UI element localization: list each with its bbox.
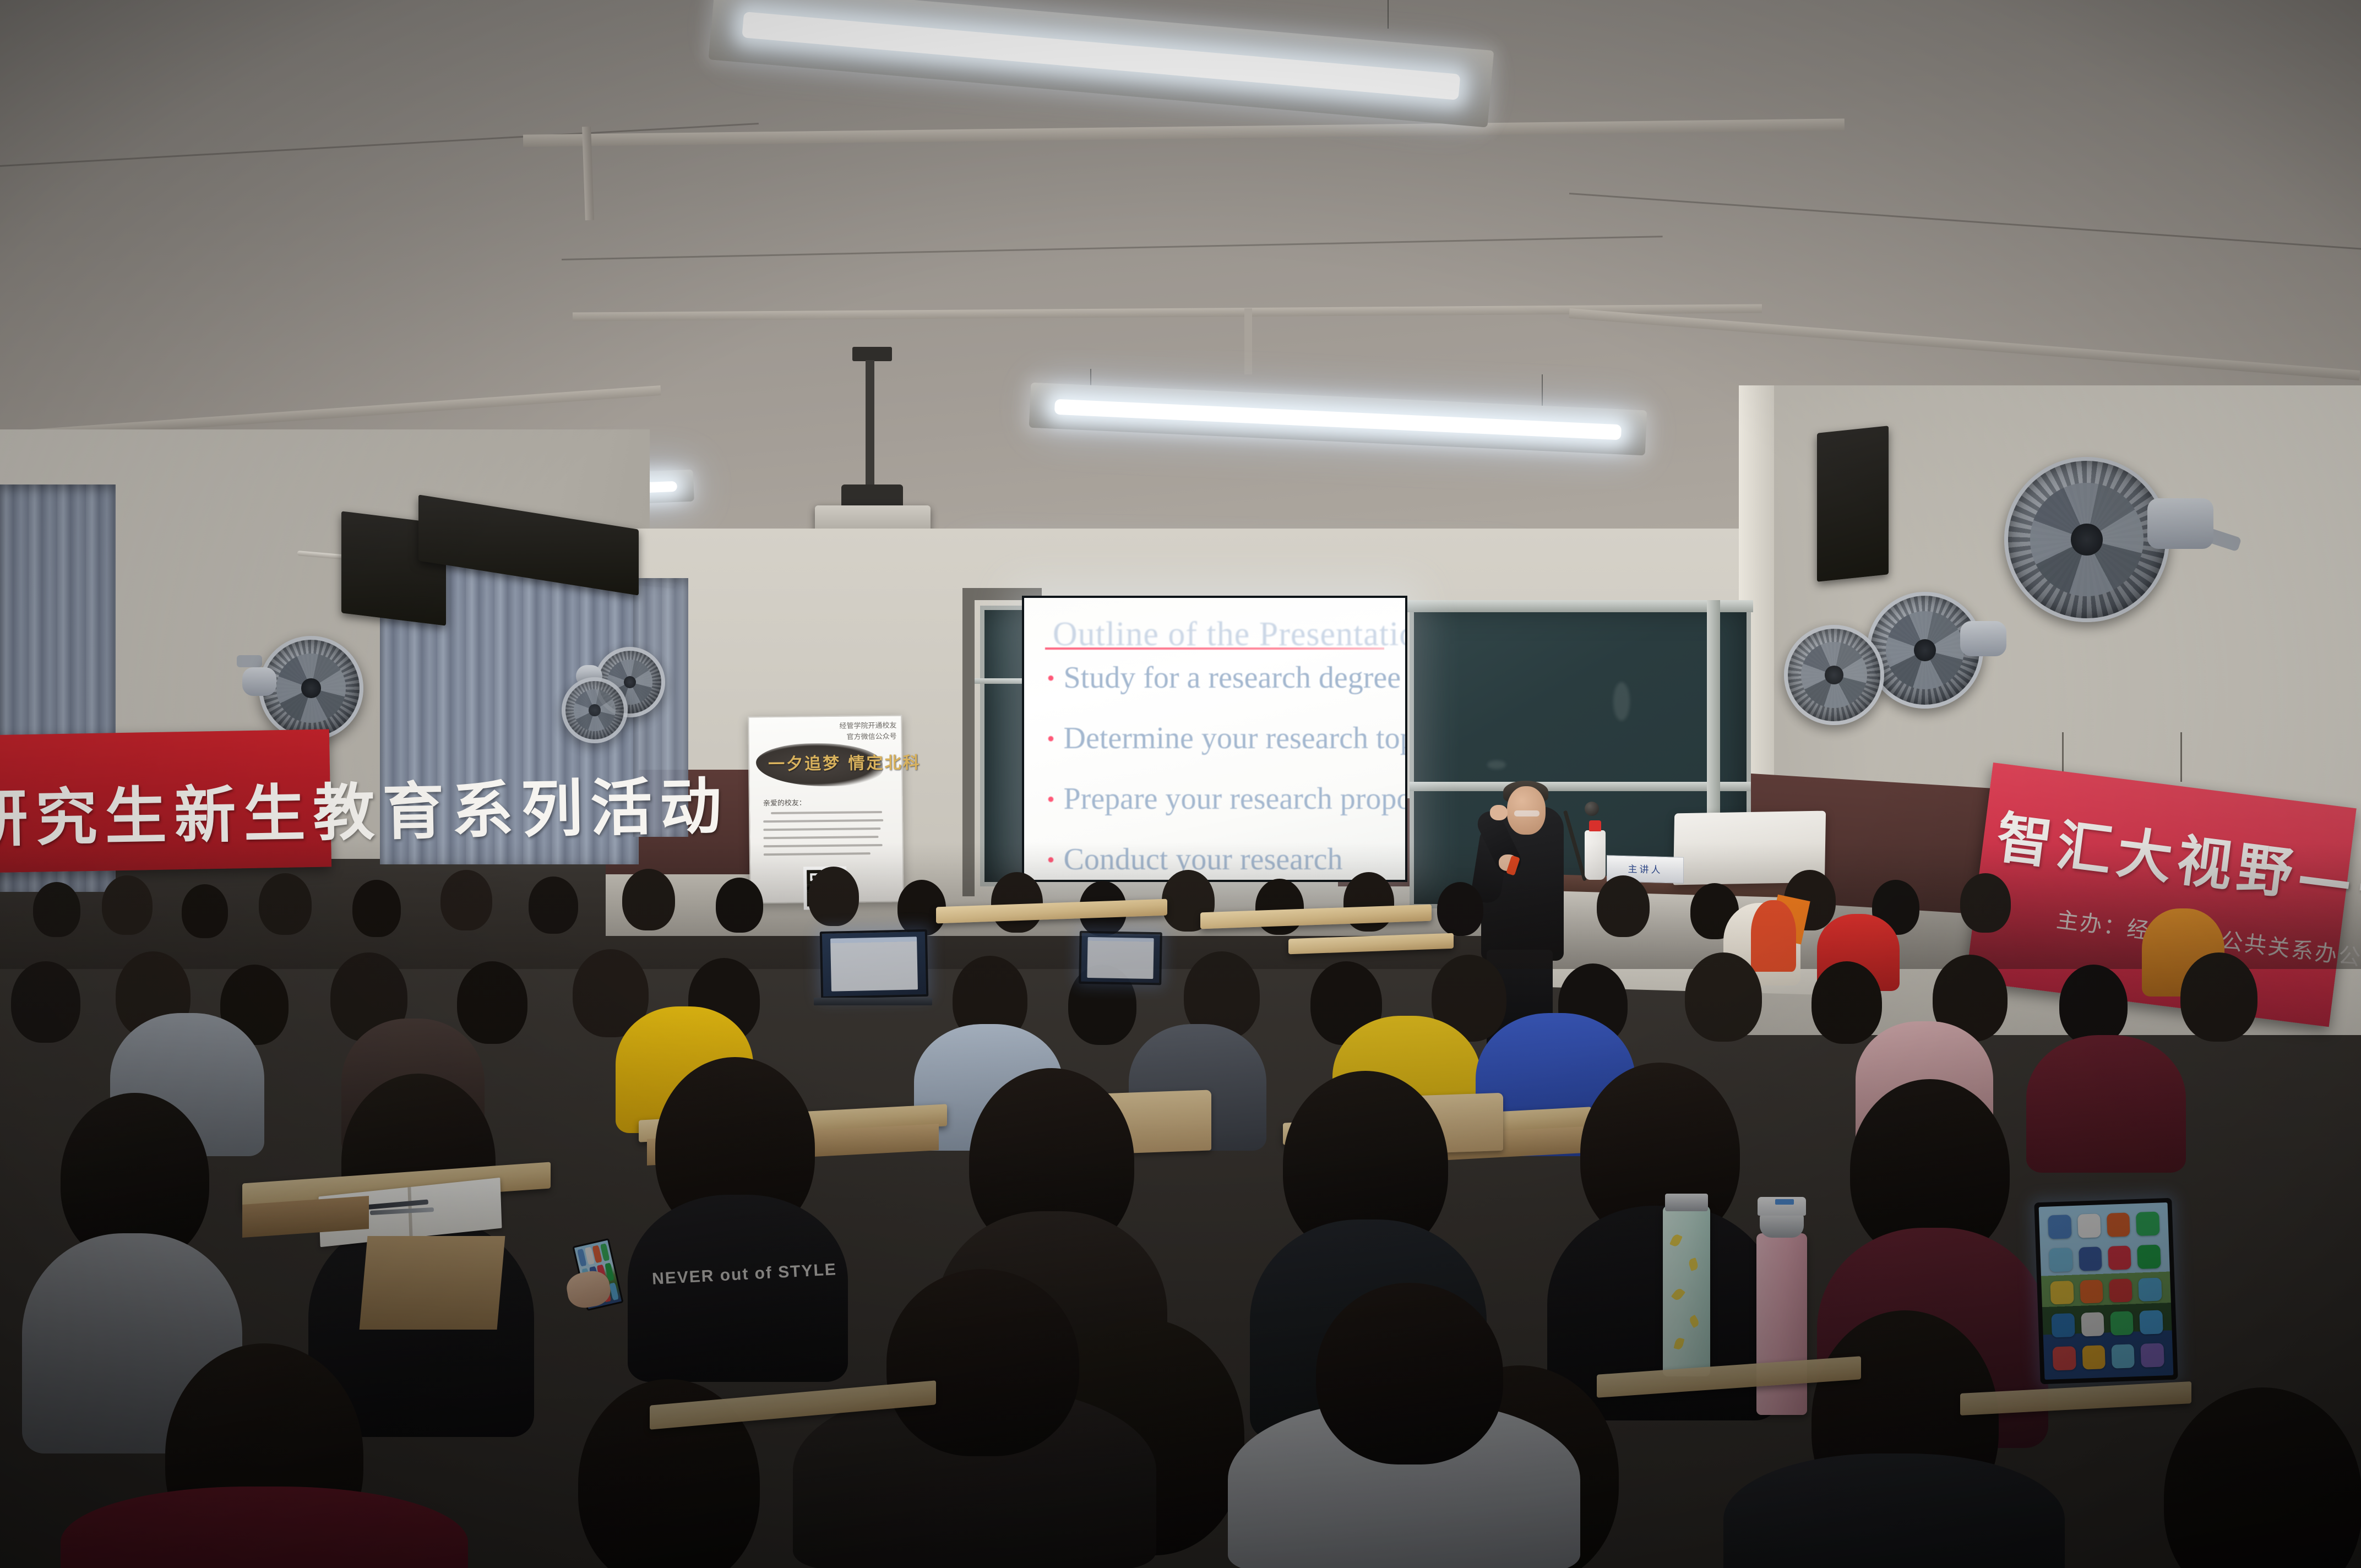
laptop-base bbox=[814, 998, 932, 1005]
classroom-photo-scene: Outline of the Presentation •Study for a… bbox=[0, 0, 2361, 1568]
foreground-person-head bbox=[2164, 1387, 2361, 1568]
microphone-head bbox=[1585, 802, 1599, 816]
laptop-screen[interactable] bbox=[1079, 931, 1162, 986]
presenter-glasses-icon bbox=[1514, 810, 1539, 816]
tablet-screen[interactable] bbox=[2039, 1202, 2174, 1380]
slide-bullet-item: •Determine your research topic bbox=[1047, 721, 1390, 756]
light-hanger-wire bbox=[1388, 0, 1389, 29]
thermos-pink[interactable] bbox=[1756, 1233, 1807, 1415]
slide-bullet-item: •Study for a research degree bbox=[1047, 660, 1390, 695]
foreground-person-head bbox=[886, 1269, 1079, 1456]
blackboard-top-rail bbox=[1407, 600, 1753, 612]
ceiling-downpipe bbox=[1244, 308, 1252, 374]
presentation-slide: Outline of the Presentation •Study for a… bbox=[1024, 598, 1405, 880]
slide-bullet-item: •Prepare your research proposal bbox=[1047, 781, 1390, 816]
banner-hanging-string bbox=[2180, 732, 2182, 782]
bullet-icon: • bbox=[1047, 726, 1055, 751]
fan-motor bbox=[242, 667, 276, 696]
wall-fan-5 bbox=[1784, 625, 1884, 725]
left-banner-text: 研究生新生教育系列活动 bbox=[0, 756, 730, 859]
slide-divider bbox=[1045, 647, 1384, 650]
fan-motor bbox=[1960, 621, 2006, 656]
tablet-app-grid[interactable] bbox=[2048, 1211, 2164, 1370]
wall-speaker-right bbox=[1817, 426, 1889, 582]
poster-headline: 一夕追梦 情定北科 bbox=[768, 749, 921, 775]
laptop-screen[interactable] bbox=[820, 929, 929, 999]
fan-bracket bbox=[237, 655, 262, 667]
foreground-person-head bbox=[1316, 1283, 1503, 1464]
audience-person bbox=[2026, 1035, 2186, 1173]
slide-bullet-list: •Study for a research degree •Determine … bbox=[1047, 660, 1390, 880]
foreground-person bbox=[1723, 1453, 2065, 1568]
projector-rod bbox=[866, 360, 874, 491]
light-hanger-wire bbox=[1542, 374, 1543, 409]
bullet-icon: • bbox=[1047, 666, 1055, 690]
presenter-raised-hand bbox=[1490, 805, 1508, 820]
audience-person-jacket: NEVER out of STYLE bbox=[628, 1195, 848, 1382]
projection-screen: Outline of the Presentation •Study for a… bbox=[1022, 596, 1407, 882]
fan-motor bbox=[2147, 498, 2213, 549]
foreground-person bbox=[61, 1487, 468, 1568]
bullet-icon: • bbox=[1047, 787, 1055, 812]
blackboard-chalk-rail bbox=[1410, 782, 1751, 791]
thermos-mint[interactable] bbox=[1663, 1206, 1710, 1376]
jacket-text: NEVER out of STYLE bbox=[651, 1260, 837, 1289]
wall-fan-3 bbox=[2004, 457, 2169, 622]
projector-ceiling-plate bbox=[852, 347, 892, 361]
desk-front-panel bbox=[360, 1236, 505, 1330]
poster-notice: 经管学院开通校友 官方微信公众号 bbox=[814, 721, 896, 743]
wall-fan-6 bbox=[562, 677, 628, 743]
tablet[interactable] bbox=[2034, 1198, 2178, 1385]
poster-ink-splash: 一夕追梦 情定北科 bbox=[756, 743, 883, 787]
